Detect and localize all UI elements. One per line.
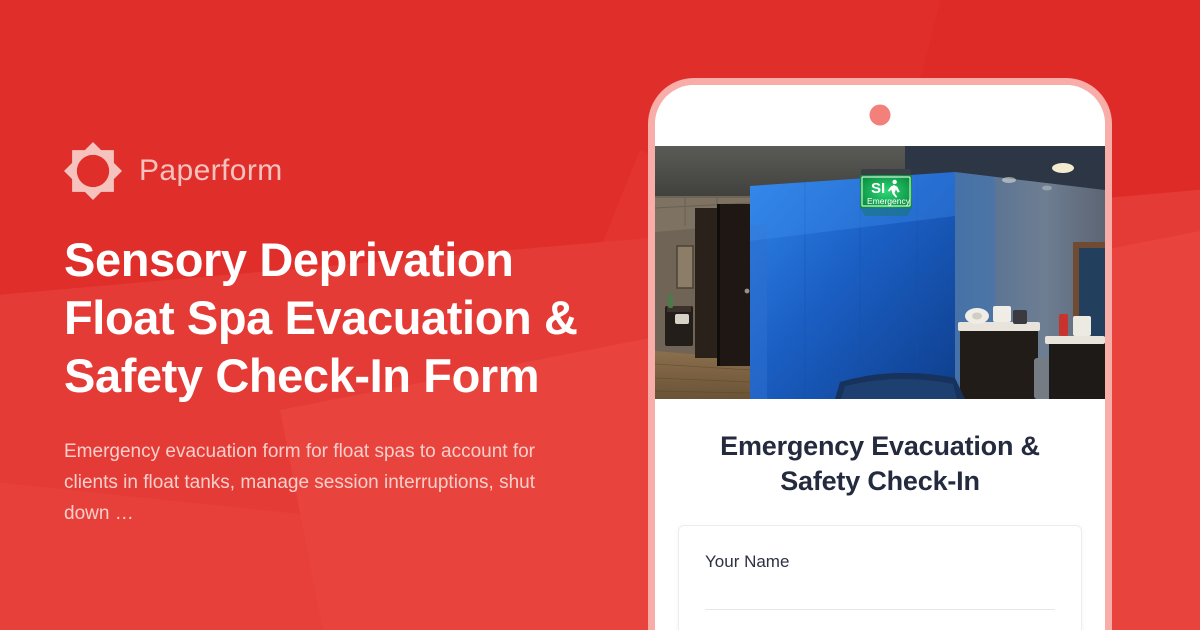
phone-bezel	[655, 85, 1105, 146]
og-image-canvas: Paperform Sensory Deprivation Float Spa …	[0, 0, 1200, 630]
form-header-photo: SI Emergency	[655, 146, 1105, 399]
form-question-card: Your Name	[678, 525, 1082, 630]
brand-wordmark: Paperform	[139, 154, 283, 188]
svg-text:Emergency: Emergency	[867, 196, 911, 206]
camera-dot-icon	[870, 105, 891, 126]
form-body: Emergency Evacuation & Safety Check-In Y…	[655, 399, 1105, 630]
your-name-input[interactable]	[705, 609, 1055, 610]
phone-mockup: SI Emergency Emergency Evacuation & Safe…	[648, 78, 1112, 630]
your-name-label: Your Name	[705, 550, 1055, 574]
brand-lockup: Paperform	[64, 140, 624, 202]
page-title: Sensory Deprivation Float Spa Evacuation…	[64, 231, 624, 405]
paperform-star-logo-icon	[64, 142, 122, 200]
hero-text-column: Paperform Sensory Deprivation Float Spa …	[64, 140, 624, 548]
page-description: Emergency evacuation form for float spas…	[64, 436, 564, 529]
svg-text:SI: SI	[871, 180, 885, 197]
form-title: Emergency Evacuation & Safety Check-In	[655, 429, 1105, 499]
